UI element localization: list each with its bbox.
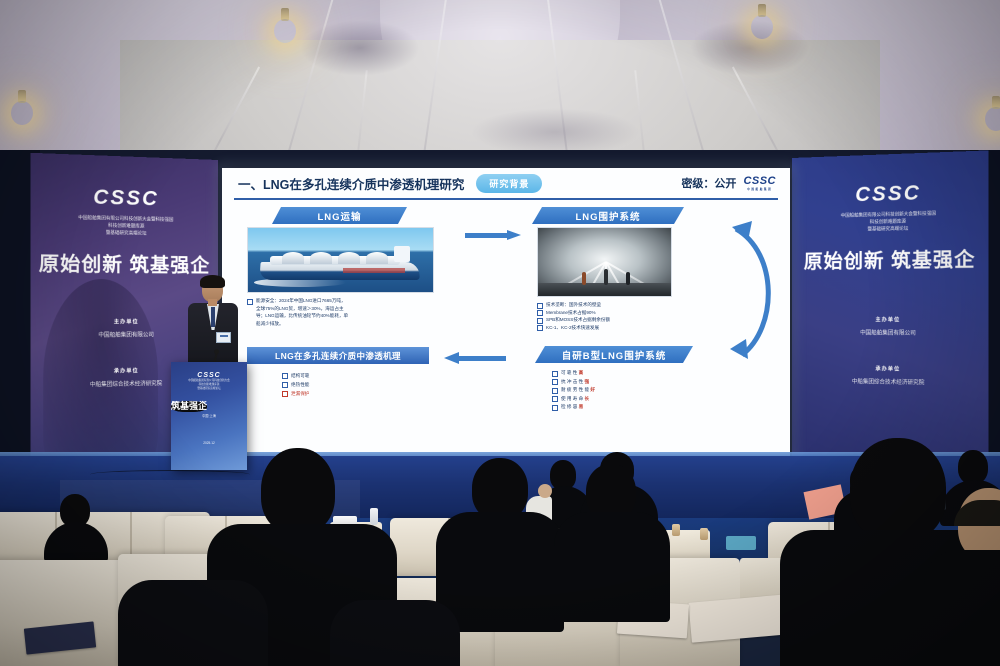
caption1-line-3: 导；LNG运输，比传统油轮节约40%能耗，单	[256, 312, 348, 319]
bullet-box-icon	[552, 405, 558, 411]
bullet-box-icon	[552, 379, 558, 385]
arrow-left-icon	[444, 353, 506, 363]
bullet-box-icon	[247, 299, 253, 305]
caption-tech-monopoly: 技术垄断：国外技术的壁垒 Membrane技术占据90% SPB和MOSS技术占…	[537, 301, 737, 331]
b4-text-0: 结构可靠	[291, 371, 309, 380]
cup	[700, 528, 708, 540]
tissue-box-blue	[726, 536, 756, 550]
bullet-box-icon	[282, 391, 288, 397]
banner-right: CSSC 中国船舶集团有限公司科技创新大会暨科技强国 科技创新难题库源 暨基础研…	[792, 150, 988, 473]
bullet-box-icon	[552, 396, 558, 402]
slide-header-right: 密级：公开 CSSC 中国船舶集团	[681, 175, 776, 191]
flow-box-permeation-mechanism: LNG在多孔连续介质中渗透机理	[247, 347, 429, 364]
arrow-right-icon	[465, 231, 523, 240]
banner-right-headline: 原始创新 筑基强企	[792, 244, 988, 274]
caption1-line-1: 能源安全：2024年中国LNG进口7665万吨，	[256, 297, 346, 304]
conference-photo: CSSC 中国船舶集团有限公司科技创新大会暨科技强国 科技创新难题库源 暨基础研…	[0, 0, 1000, 666]
bullet-box-icon	[537, 318, 543, 324]
bullet-box-icon	[537, 310, 543, 316]
projection-screen: 一、LNG在多孔连续介质中渗透机理研究 研究背景 密级：公开 CSSC 中国船舶…	[222, 168, 790, 460]
slide-cssc-logo-text: CSSC	[743, 175, 776, 187]
b3-accent-2: 好	[590, 387, 595, 392]
b3-text-4: 检 修 容	[561, 404, 579, 409]
cup	[672, 524, 680, 536]
lng-carrier-ship-photo	[247, 227, 434, 293]
bullets-permeation-topics: 结构可靠 绝热性能 泄漏保护	[282, 371, 412, 398]
b3-accent-3: 长	[584, 396, 589, 401]
flow-box-containment-system: LNG围护系统	[532, 207, 684, 224]
podium-headline-2: 筑基强企	[171, 401, 207, 412]
b3-text-2: 耐 疲 劳 性 能	[561, 387, 590, 392]
b3-accent-1: 强	[584, 379, 589, 384]
bullets-type-b-features: 可 靠 性 高 抗 冲 击 性 强 耐 疲 劳 性 能 好 使 用 寿 命 长 …	[552, 369, 722, 412]
slide-header-rule	[234, 198, 778, 200]
bullet-box-icon	[552, 388, 558, 394]
slide-cssc-logo: CSSC 中国船舶集团	[743, 175, 776, 191]
bullet-box-icon	[537, 303, 543, 309]
b3-text-0: 可 靠 性	[561, 370, 579, 375]
slide-header: 一、LNG在多孔连续介质中渗透机理研究 研究背景 密级：公开 CSSC 中国船舶…	[222, 168, 790, 198]
caption1-line-4: 船减少排放。	[256, 320, 284, 327]
b4-text-2: 泄漏保护	[291, 389, 309, 398]
podium-subtitle-3: 暨基础研究高端论坛	[171, 387, 247, 391]
ceiling	[0, 0, 1000, 170]
banner-right-logo: CSSC	[792, 180, 988, 209]
banner-right-organizer-label: 承办单位	[792, 364, 988, 374]
caption2-line-3: SPB和MOSS技术占据剩余份额	[546, 316, 610, 323]
slide-cssc-logo-sub: 中国船舶集团	[743, 187, 776, 191]
banner-left-headline: 原始创新 筑基强企	[30, 248, 218, 278]
slide-title: 一、LNG在多孔连续介质中渗透机理研究	[238, 174, 464, 193]
slide: 一、LNG在多孔连续介质中渗透机理研究 研究背景 密级：公开 CSSC 中国船舶…	[222, 168, 790, 460]
banner-left-logo: CSSC	[30, 184, 218, 213]
banner-right-organizer-name: 中船集团综合技术经济研究院	[792, 376, 988, 388]
podium-logo: CSSC	[171, 372, 247, 379]
banner-right-host-name: 中国船舶集团有限公司	[792, 328, 988, 337]
b3-accent-0: 高	[579, 370, 584, 375]
curved-arrow-icon	[722, 215, 784, 367]
section-tag-badge: 研究背景	[476, 174, 542, 193]
flow-box-self-developed-type-b: 自研B型LNG围护系统	[535, 346, 693, 363]
caption-energy-security: 能源安全：2024年中国LNG进口7665万吨， 全球75%的LNG贸，增速＞3…	[247, 297, 442, 327]
lng-containment-tank-photo	[537, 227, 672, 297]
slide-body: LNG运输 LNG围护系统	[222, 201, 790, 460]
bullet-box-icon	[282, 373, 288, 379]
b3-accent-4: 易	[579, 404, 584, 409]
flow-box-lng-transport: LNG运输	[272, 207, 407, 224]
banner-right-host-label: 主办单位	[792, 316, 988, 324]
b3-text-3: 使 用 寿 命	[561, 396, 584, 401]
bullet-box-icon	[537, 325, 543, 331]
b4-text-1: 绝热性能	[291, 380, 309, 389]
caption2-line-4: KC-1、KC-2技术快速发展	[546, 324, 599, 331]
bullet-box-icon	[552, 371, 558, 377]
b3-text-1: 抗 冲 击 性	[561, 379, 584, 384]
caption2-line-1: 技术垄断：国外技术的壁垒	[546, 301, 601, 308]
audience	[0, 430, 1000, 666]
water-bottle	[370, 508, 378, 525]
caption2-line-2: Membrane技术占据90%	[546, 309, 596, 316]
podium-footer-1: 中国·上海	[171, 414, 247, 419]
speaker-badge	[216, 332, 231, 343]
secrecy-level: 密级：公开	[681, 175, 736, 191]
caption1-line-2: 全球75%的LNG贸，增速＞30%，海运占主	[256, 305, 344, 312]
bullet-box-icon	[282, 382, 288, 388]
